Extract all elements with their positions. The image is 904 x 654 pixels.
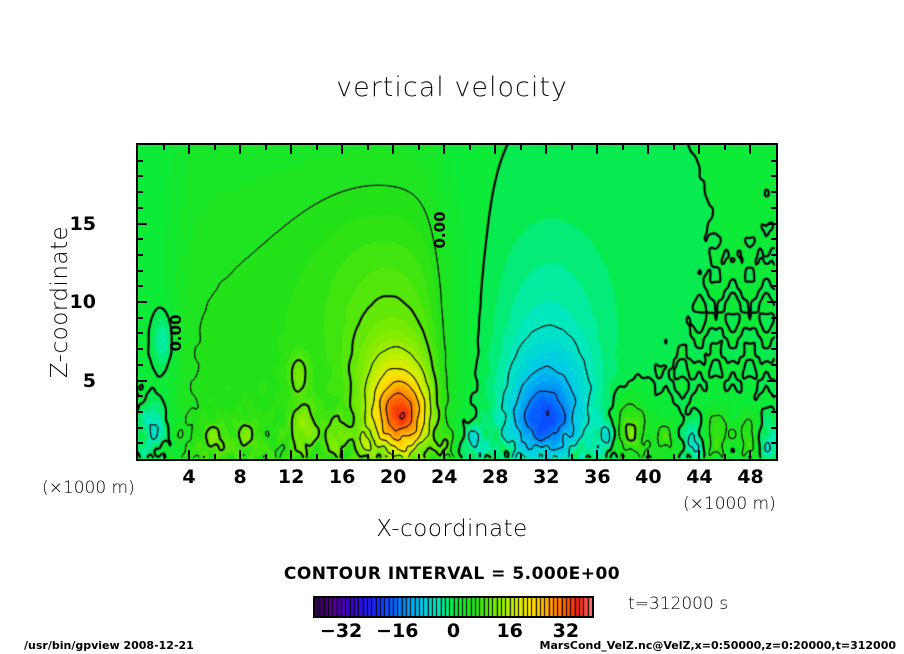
x-tick [647,145,649,154]
x-tick [443,450,445,459]
x-tick [290,450,292,459]
x-axis-unit-left: (×1000 m) [42,478,135,498]
contour-field-canvas [138,145,776,459]
x-tick-label: 32 [533,466,559,488]
x-tick [265,145,267,150]
colorbar-tick-label: 0 [447,620,460,642]
y-tick [771,364,776,366]
x-tick [214,454,216,459]
x-tick [367,145,369,150]
x-tick-label: 24 [431,466,457,488]
x-tick [622,454,624,459]
x-tick [341,145,343,154]
x-tick [443,145,445,154]
x-tick [647,450,649,459]
y-tick [138,175,143,177]
y-tick [138,427,143,429]
y-tick-label: 5 [83,370,96,392]
y-tick [138,442,143,444]
y-tick [771,348,776,350]
y-tick [771,317,776,319]
x-tick [418,454,420,459]
colorbar-tick-label: −16 [376,620,418,642]
y-tick [771,238,776,240]
x-tick-label: 28 [482,466,508,488]
page-title: vertical velocity [0,72,904,103]
x-tick [341,450,343,459]
x-tick [673,454,675,459]
colorbar-tick-label: −32 [320,620,362,642]
y-tick [138,364,143,366]
y-tick [138,317,143,319]
footer-data-source: MarsCond_VelZ.nc@VelZ,x=0:50000,z=0:2000… [540,639,896,652]
x-tick-label: 36 [584,466,610,488]
y-tick [767,301,776,303]
x-tick-label: 40 [635,466,661,488]
y-tick [138,254,143,256]
y-tick [138,207,143,209]
x-tick [469,145,471,150]
colorbar[interactable] [313,596,594,618]
x-tick [418,145,420,150]
x-tick-label: 44 [686,466,712,488]
y-tick [771,427,776,429]
x-tick [571,145,573,150]
y-tick [138,348,143,350]
y-tick [138,411,143,413]
x-tick [698,450,700,459]
x-tick-label: 48 [737,466,763,488]
x-tick [724,145,726,150]
footer-command-line: /usr/bin/gpview 2008-12-21 [24,639,194,652]
y-tick [138,160,143,162]
x-tick [214,145,216,150]
y-tick [767,223,776,225]
x-tick [520,454,522,459]
x-tick [494,450,496,459]
x-tick [571,454,573,459]
x-tick [290,145,292,154]
x-tick [163,145,165,150]
y-tick-label: 15 [70,213,96,235]
y-tick [138,332,143,334]
x-tick [316,145,318,150]
y-tick [138,380,147,382]
y-axis-title: Z-coordinate [47,226,73,378]
contour-label-zero-left: 0.00 [167,315,185,352]
x-tick [749,450,751,459]
x-tick [265,454,267,459]
y-tick [771,270,776,272]
y-tick [771,332,776,334]
y-tick [771,175,776,177]
contour-interval-caption: CONTOUR INTERVAL = 5.000E+00 [0,564,904,584]
y-tick [138,301,147,303]
x-tick [494,145,496,154]
x-tick [724,454,726,459]
x-tick [188,450,190,459]
x-tick [239,145,241,154]
y-tick [771,411,776,413]
x-tick-label: 8 [233,466,246,488]
x-tick-label: 20 [380,466,406,488]
y-tick [138,191,143,193]
x-tick [673,145,675,150]
x-tick [545,450,547,459]
y-tick [771,207,776,209]
y-tick [771,285,776,287]
y-tick [771,254,776,256]
x-tick [749,145,751,154]
x-tick-label: 12 [278,466,304,488]
x-tick [163,454,165,459]
x-tick [188,145,190,154]
colorbar-tick-label: 16 [496,620,522,642]
x-tick-label: 4 [182,466,195,488]
x-tick [520,145,522,150]
contour-plot-area[interactable] [136,143,778,461]
x-tick-label: 16 [329,466,355,488]
y-tick [138,395,143,397]
x-axis-title: X-coordinate [0,516,904,542]
y-tick-label: 10 [70,291,96,313]
x-axis-unit-right: (×1000 m) [683,494,776,514]
y-tick [771,395,776,397]
y-tick [138,270,143,272]
y-tick [771,442,776,444]
contour-label-zero-right: 0.00 [431,211,449,248]
x-tick [392,450,394,459]
x-tick [596,145,598,154]
x-tick [545,145,547,154]
y-tick [771,191,776,193]
x-tick [698,145,700,154]
y-tick [767,380,776,382]
x-tick [367,454,369,459]
x-tick [239,450,241,459]
colorbar-gradient [315,598,592,616]
x-tick [596,450,598,459]
y-tick [138,285,143,287]
x-tick [622,145,624,150]
x-tick [469,454,471,459]
y-tick [138,238,143,240]
x-tick [392,145,394,154]
y-tick [771,160,776,162]
time-annotation: t=312000 s [628,594,728,614]
y-tick [138,223,147,225]
x-tick [316,454,318,459]
